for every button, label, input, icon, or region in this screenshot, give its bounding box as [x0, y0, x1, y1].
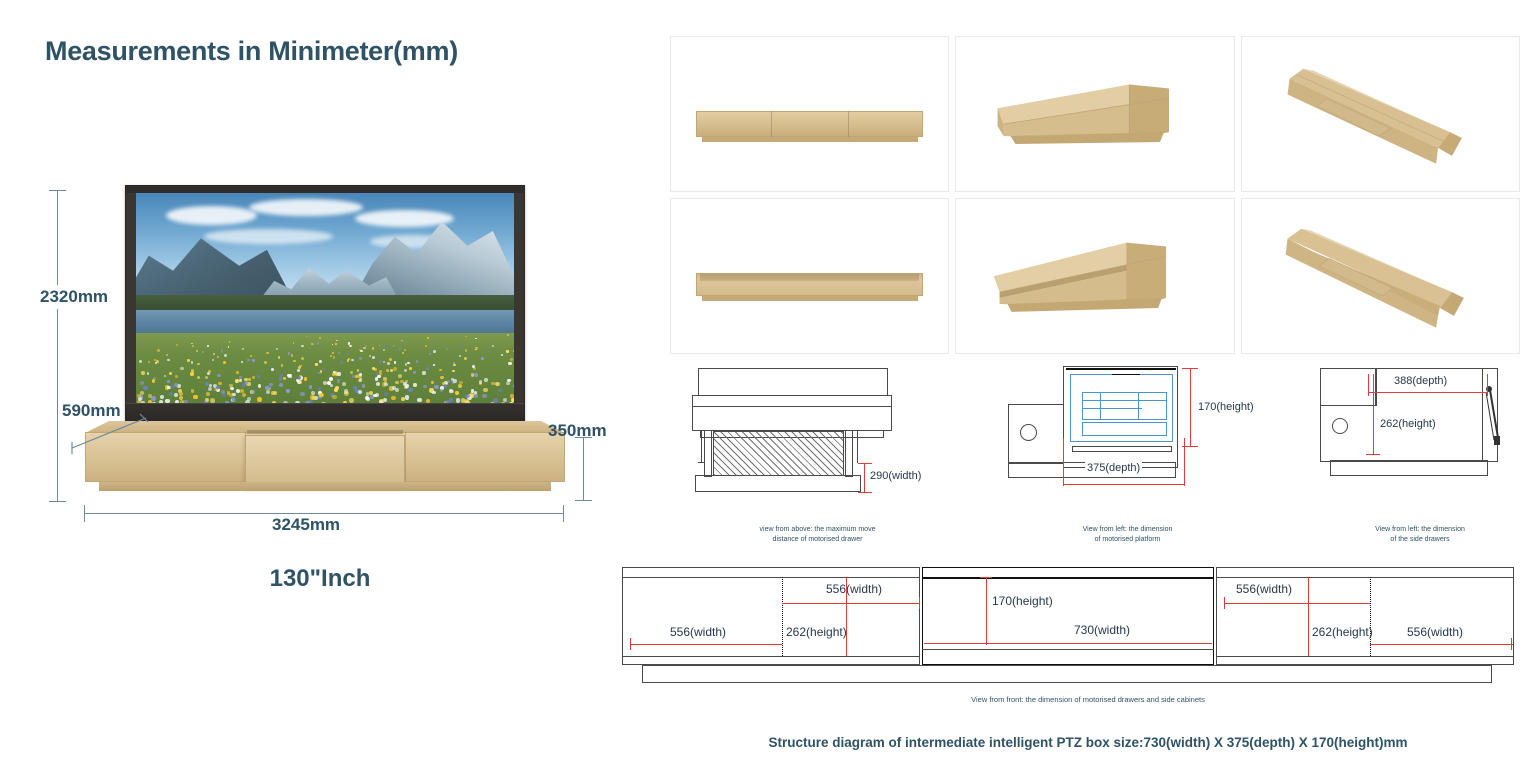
- flower: [300, 392, 304, 396]
- flower: [416, 360, 419, 363]
- flower: [427, 337, 429, 339]
- lake: [136, 310, 514, 335]
- flower: [242, 393, 246, 397]
- flower: [337, 372, 340, 375]
- travel-hatch-area: [713, 431, 844, 476]
- thumb-cabinet-front-view[interactable]: [670, 36, 949, 192]
- dimension-line: [1224, 603, 1370, 604]
- flower: [335, 343, 337, 345]
- flower-meadow: [136, 333, 514, 405]
- flower: [257, 375, 261, 379]
- flower: [423, 385, 427, 389]
- flower: [332, 344, 334, 346]
- base-outline: [695, 475, 861, 492]
- dimension-extension: [1063, 438, 1064, 486]
- front-view-caption: View from front: the dimension of motori…: [640, 695, 1536, 704]
- flower: [221, 350, 223, 352]
- flower: [206, 392, 210, 396]
- label-375-depth: 375(depth): [1085, 462, 1142, 474]
- flower: [475, 347, 477, 349]
- label-170-height: 170(height): [1198, 401, 1254, 413]
- flower: [417, 398, 422, 403]
- flower: [348, 342, 350, 344]
- flower: [347, 353, 349, 355]
- flower: [383, 361, 386, 364]
- flower: [164, 375, 167, 378]
- inner-line: [922, 649, 1214, 650]
- flower: [309, 385, 313, 389]
- dimension-line: [986, 577, 987, 645]
- right-technical-panel: 290(width) view from above: the maximum …: [640, 0, 1536, 773]
- flower: [191, 389, 195, 393]
- flower: [359, 357, 362, 360]
- flower: [394, 361, 397, 364]
- flower: [329, 377, 333, 381]
- flower: [398, 374, 402, 378]
- platform-line: [1082, 408, 1142, 409]
- caption-view-left-side-drawers: View from left: the dimension of the sid…: [1310, 525, 1530, 545]
- flower: [288, 352, 290, 354]
- flower: [160, 395, 164, 399]
- caption-line-2: of the side drawers: [1390, 536, 1449, 543]
- flower: [511, 398, 514, 402]
- flower: [192, 345, 194, 347]
- flower: [362, 384, 366, 388]
- flower: [431, 381, 435, 385]
- dimension-line: [1370, 644, 1513, 645]
- dimension-cap: [919, 597, 920, 609]
- flower: [357, 369, 360, 372]
- flower: [323, 381, 327, 385]
- footer-structure-note: Structure diagram of intermediate intell…: [640, 735, 1536, 750]
- flower: [247, 359, 250, 362]
- flower: [228, 346, 230, 348]
- thumb-cabinet-top-trough-view[interactable]: [670, 198, 949, 354]
- flower: [197, 376, 200, 379]
- seam: [771, 111, 772, 137]
- flower: [488, 351, 490, 353]
- flower: [179, 392, 184, 397]
- flower: [471, 389, 475, 393]
- flower: [465, 349, 467, 351]
- cabinet-height-dimension-line: [583, 437, 584, 501]
- dimension-cap: [1224, 597, 1225, 609]
- flower: [413, 383, 416, 386]
- flower: [446, 348, 448, 350]
- flower: [508, 362, 511, 365]
- flower: [393, 367, 397, 371]
- front-view-panel: 556(width) 556(width) 262(height) 170(he…: [640, 555, 1536, 695]
- flower: [432, 391, 436, 395]
- gas-strut-icon: [1478, 382, 1506, 462]
- flower: [492, 345, 495, 348]
- flower: [384, 346, 386, 348]
- flower: [453, 364, 456, 367]
- base-outline: [1330, 460, 1488, 476]
- flower: [405, 395, 410, 400]
- flower: [156, 360, 159, 363]
- screen-top-bar: [126, 186, 524, 193]
- flower: [266, 390, 270, 394]
- flower: [348, 358, 351, 361]
- flower: [332, 395, 337, 400]
- top-edge-line: [922, 577, 1214, 579]
- label-left-height: 262(height): [786, 625, 847, 639]
- flower: [193, 395, 197, 399]
- flower: [169, 372, 173, 376]
- flower: [359, 373, 362, 376]
- flower: [340, 361, 343, 364]
- knob-circle: [1020, 424, 1037, 441]
- flower: [352, 375, 355, 378]
- flower: [202, 351, 204, 353]
- flower: [349, 398, 354, 403]
- flower: [481, 357, 484, 360]
- flower: [336, 340, 338, 342]
- flower: [297, 369, 300, 372]
- measurement-diagram-page: Measurements in Minimeter(mm): [0, 0, 1536, 773]
- projector-screen: [125, 185, 525, 438]
- flower: [140, 381, 144, 385]
- cabinet-plinth: [99, 482, 551, 491]
- dimension-line: [1190, 368, 1191, 446]
- thumb-cabinet-perspective-right[interactable]: [955, 36, 1234, 192]
- caption-line-1: View from left: the dimension: [1083, 526, 1173, 533]
- rail: [845, 430, 853, 477]
- flower: [395, 381, 398, 384]
- flower: [224, 354, 226, 356]
- flower: [205, 376, 209, 380]
- flower: [332, 373, 335, 376]
- width-dimension-label: 3245mm: [272, 515, 340, 535]
- flower: [483, 388, 487, 392]
- flower: [170, 385, 174, 389]
- label-388-depth: 388(depth): [1392, 375, 1449, 387]
- flower: [288, 374, 291, 377]
- flower: [404, 349, 406, 351]
- flower: [311, 391, 315, 395]
- flower: [482, 394, 486, 398]
- flower: [456, 398, 460, 402]
- label-left-width-bottom: 556(width): [670, 625, 726, 639]
- bottom-edge-line: [622, 656, 920, 657]
- tech-drawing-view-from-above: 290(width) view from above: the maximum …: [690, 362, 945, 547]
- flower: [166, 354, 168, 356]
- dimension-line: [924, 643, 1212, 644]
- platform-line: [1082, 400, 1167, 401]
- height-dimension-line: [57, 190, 58, 502]
- flower: [365, 345, 367, 347]
- cabinet-height-label: 350mm: [548, 421, 607, 441]
- flower: [439, 369, 442, 372]
- flower: [440, 389, 444, 393]
- bottom-edge-line: [1216, 656, 1514, 657]
- flower: [318, 372, 321, 375]
- flower: [447, 380, 450, 383]
- flower: [266, 352, 269, 355]
- flower: [217, 356, 219, 358]
- flower: [434, 385, 438, 389]
- dimension-line: [630, 644, 782, 645]
- flower: [472, 365, 475, 368]
- flower: [327, 381, 331, 385]
- screen-size-label: 130"Inch: [0, 565, 640, 593]
- flower: [452, 370, 455, 373]
- knob-circle: [1332, 418, 1348, 434]
- plinth: [702, 137, 918, 142]
- flower: [301, 345, 303, 347]
- detail-line: [857, 430, 858, 463]
- flower: [422, 371, 425, 374]
- flower: [229, 341, 231, 343]
- flower: [196, 350, 199, 353]
- top-edge-line: [622, 577, 920, 578]
- flower: [507, 379, 511, 383]
- product-thumbnail-grid: [670, 36, 1520, 354]
- flower: [337, 379, 340, 382]
- flower: [334, 388, 338, 392]
- flower: [232, 397, 236, 401]
- flower: [140, 391, 144, 395]
- flower: [372, 356, 375, 359]
- label-center-width: 730(width): [1074, 623, 1130, 637]
- dimension-extension: [1368, 374, 1369, 396]
- flower: [207, 345, 209, 347]
- dimension-extension: [1487, 374, 1488, 396]
- divider: [1376, 368, 1377, 406]
- flower: [409, 367, 412, 370]
- flower: [205, 398, 209, 402]
- flower: [433, 350, 436, 353]
- flower: [317, 342, 319, 344]
- flower: [293, 360, 296, 363]
- flower: [232, 393, 236, 397]
- flower: [210, 398, 215, 403]
- flower: [264, 361, 267, 364]
- flower: [404, 369, 407, 372]
- top-edge: [1066, 368, 1176, 370]
- flower: [311, 343, 313, 345]
- flower: [306, 336, 307, 337]
- flower: [319, 393, 324, 398]
- flower: [151, 396, 156, 401]
- flower: [208, 387, 212, 391]
- cloud: [204, 229, 333, 244]
- front-view-plinth: [642, 665, 1492, 683]
- plinth: [702, 296, 918, 301]
- caption-line-1: View from left: the dimension: [1375, 526, 1465, 533]
- flower: [386, 369, 389, 372]
- tech-drawing-view-left-platform: 170(height) 375(depth) View from left: t…: [1000, 362, 1255, 547]
- flower: [286, 389, 290, 393]
- track: [1072, 446, 1172, 452]
- flower: [465, 394, 469, 398]
- flower: [167, 359, 169, 361]
- flower: [461, 346, 463, 348]
- flower: [449, 389, 453, 393]
- flower: [230, 387, 234, 391]
- flower: [180, 367, 183, 370]
- flower: [376, 382, 380, 386]
- flower: [440, 376, 444, 380]
- cloud: [166, 206, 257, 225]
- flower: [235, 379, 239, 383]
- flower: [293, 342, 295, 344]
- dimension-cap: [858, 463, 872, 464]
- flower: [299, 365, 301, 367]
- flower: [338, 352, 340, 354]
- flower: [247, 397, 251, 401]
- flower: [344, 389, 348, 393]
- flower: [190, 372, 194, 376]
- flower: [501, 354, 504, 357]
- tech-drawing-view-left-side-drawers: 388(depth) 262(height) View from left: t…: [1310, 362, 1530, 547]
- flower: [271, 368, 274, 371]
- flower: [369, 355, 371, 357]
- flower: [281, 364, 284, 367]
- flower: [212, 359, 215, 362]
- flower: [167, 380, 171, 384]
- flower: [297, 380, 301, 384]
- dimension-cap: [980, 577, 992, 578]
- label-right-height: 262(height): [1312, 625, 1373, 639]
- flower: [176, 344, 178, 346]
- flower: [143, 386, 147, 390]
- flower: [252, 359, 255, 362]
- flower: [139, 360, 142, 363]
- flower: [407, 362, 410, 365]
- flower: [408, 388, 412, 392]
- flower: [239, 379, 243, 383]
- flower: [279, 377, 282, 380]
- dimension-cap: [630, 638, 631, 650]
- perspective-drawing: [956, 37, 1233, 191]
- flower: [383, 377, 387, 381]
- flower: [250, 355, 252, 357]
- flower: [513, 384, 514, 388]
- dimension-cap: [858, 492, 872, 493]
- flower: [395, 388, 399, 392]
- label-left-width-top: 556(width): [826, 582, 882, 596]
- flower: [455, 391, 459, 395]
- flower: [342, 382, 346, 386]
- outline: [698, 368, 888, 396]
- flower: [332, 352, 334, 354]
- flower: [453, 379, 457, 383]
- flower: [402, 352, 405, 355]
- perspective-drawing: [1242, 37, 1519, 191]
- cloud: [355, 210, 453, 227]
- label-center-height: 170(height): [992, 594, 1053, 608]
- flower: [248, 378, 251, 381]
- flower: [506, 350, 508, 352]
- screen-cabinet-assembly: [85, 185, 565, 505]
- rail: [704, 430, 712, 477]
- screen-image-landscape: [136, 193, 514, 405]
- width-dimension-line: [84, 513, 564, 514]
- dimension-cap: [1182, 368, 1198, 369]
- flower: [208, 370, 211, 373]
- flower: [141, 371, 145, 375]
- flower: [512, 336, 514, 338]
- flower: [360, 350, 363, 353]
- flower: [389, 358, 392, 361]
- flower: [213, 353, 216, 356]
- flower: [387, 362, 390, 365]
- detail-line: [701, 430, 702, 463]
- dimension-cap: [1511, 638, 1512, 650]
- flower: [169, 392, 173, 396]
- flower: [474, 373, 478, 377]
- flower: [459, 355, 462, 358]
- cabinet-seam: [405, 432, 406, 482]
- flower: [470, 394, 474, 398]
- thumb-cabinet-perspective-open-channel[interactable]: [955, 198, 1234, 354]
- technical-drawings-row: 290(width) view from above: the maximum …: [670, 362, 1530, 547]
- caption-view-from-above: view from above: the maximum move distan…: [690, 525, 945, 545]
- caption-line-1: view from above: the maximum move: [760, 526, 876, 533]
- flower: [373, 394, 377, 398]
- flower: [278, 356, 280, 358]
- cabinet-screen-slot: [247, 430, 403, 434]
- page-title: Measurements in Minimeter(mm): [45, 36, 458, 67]
- flower: [429, 353, 431, 355]
- flower: [252, 376, 255, 379]
- platform-line: [1100, 392, 1101, 420]
- thumb-cabinet-angled-channel-view[interactable]: [1241, 198, 1520, 354]
- flower: [465, 336, 467, 338]
- flower: [426, 367, 430, 371]
- dimension-cap: [1366, 454, 1380, 455]
- outline: [692, 395, 892, 431]
- thumb-cabinet-angled-open-top[interactable]: [1241, 36, 1520, 192]
- detail-line: [692, 406, 892, 407]
- flower: [377, 375, 380, 378]
- flower: [279, 383, 283, 387]
- flower: [398, 349, 400, 351]
- dimension-extension: [1184, 438, 1185, 486]
- flower: [301, 357, 304, 360]
- flower: [372, 367, 375, 370]
- flower: [475, 338, 477, 340]
- flower: [350, 371, 353, 374]
- flower: [372, 347, 374, 349]
- label-right-width-top: 556(width): [1236, 582, 1292, 596]
- flower: [351, 359, 353, 361]
- flower: [148, 361, 150, 363]
- flower: [449, 398, 453, 402]
- flower: [217, 374, 221, 378]
- flower: [330, 355, 333, 358]
- width-cap-left: [84, 505, 85, 522]
- flower: [139, 344, 141, 346]
- platform-line: [1138, 392, 1139, 420]
- flower: [513, 350, 514, 352]
- perspective-drawing: [1242, 199, 1519, 353]
- flower: [458, 384, 462, 388]
- flower: [383, 349, 385, 351]
- flower: [484, 378, 488, 382]
- height-dim-cap-top: [49, 190, 66, 191]
- cab-height-cap-bottom: [575, 500, 592, 501]
- flower: [402, 340, 404, 342]
- flower: [236, 389, 240, 393]
- flower: [413, 371, 416, 374]
- flower: [148, 394, 152, 398]
- flower: [393, 345, 395, 347]
- platform-detail: [1082, 422, 1167, 436]
- detail-line: [698, 462, 704, 463]
